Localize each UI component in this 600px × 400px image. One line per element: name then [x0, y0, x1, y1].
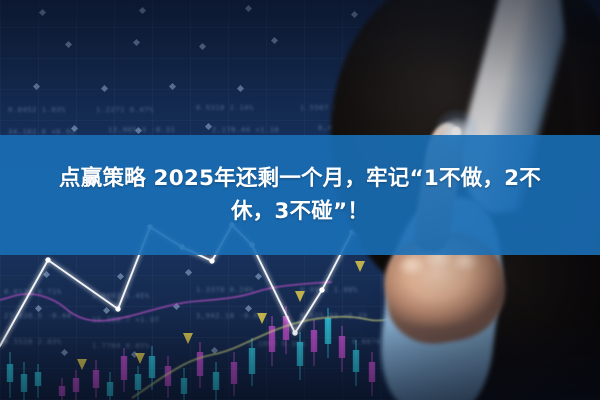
banner-image: 0.8452 1.03%1.2271 0.47%0.9318 2.14%1.55…: [0, 0, 600, 400]
headline-line-2: 休，3不碰”！: [59, 195, 541, 228]
knuckle: [452, 252, 484, 278]
headline-line-1: 点赢策略 2025年还剩一个月，牢记“1不做，2不: [59, 166, 541, 191]
headline-text: 点赢策略 2025年还剩一个月，牢记“1不做，2不 休，3不碰”！: [59, 162, 541, 228]
headline-banner: 点赢策略 2025年还剩一个月，牢记“1不做，2不 休，3不碰”！: [0, 135, 600, 255]
